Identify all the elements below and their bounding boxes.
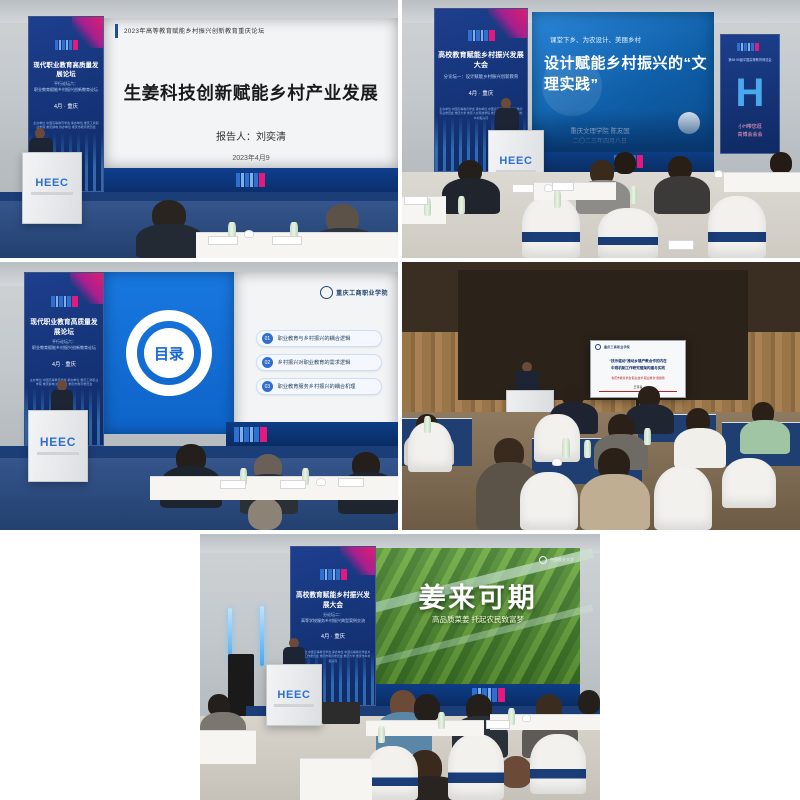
name-plate <box>280 480 306 489</box>
banquet-chair <box>708 196 766 258</box>
banquet-chair <box>598 208 658 258</box>
led-wall-field-image: 姜来可期 高品质菜姜 托起农民致富梦 中国农业大学 <box>376 548 580 684</box>
banner-date: 4月 · 重庆 <box>54 102 78 110</box>
podium: HEEC <box>28 410 88 482</box>
conference-chair <box>654 466 712 530</box>
name-plate <box>208 236 238 245</box>
banquet-chair <box>522 196 580 258</box>
podium-heec-logo: HEEC <box>35 177 68 189</box>
panel-4-breakout-room: 重庆工商职业学院 “技示驱动”推动乡镇产教合作的内在 中观机制工作研究框架构建与… <box>402 262 800 530</box>
led-wall-toc-right: 重庆工商职业学院 01 职业教育与乡村振兴的耦合逻辑 02 乡村振兴对职业教育的… <box>234 272 398 434</box>
mascot-banner-caption: 第58·59届中国高等教育博览会 <box>721 57 779 62</box>
podium-heec-logo: HEEC <box>499 155 532 167</box>
university-seal-icon <box>320 286 333 299</box>
podium-heec-logo: HEEC <box>40 435 76 449</box>
toc-item-label: 职业教育与乡村振兴的耦合逻辑 <box>278 335 351 342</box>
led-wall-toc-left: 目录 <box>104 272 234 434</box>
banner-corner-gradient <box>488 9 527 38</box>
banner-title: 高校教育赋能乡村振兴发展大会 <box>293 589 374 609</box>
banner-subtitle-2: 职业教育赋能乡村振兴创新教育论坛 <box>27 345 100 351</box>
mascot-banner-heec-logo <box>737 43 759 51</box>
toc-item-label: 乡村振兴对职业教育的需求逻辑 <box>278 359 351 366</box>
audience-head <box>770 152 792 174</box>
tea-cup <box>316 478 326 486</box>
name-plate <box>404 196 428 205</box>
water-bottle <box>424 416 431 433</box>
slide-lower-band <box>532 110 714 152</box>
screen-header-logo: 重庆工商职业学院 <box>595 344 630 350</box>
podium: HEEC <box>266 664 322 726</box>
podium-strip <box>274 704 314 707</box>
name-plate <box>668 240 694 250</box>
mascot-footer-line-1: 小H带您逛 <box>721 123 779 130</box>
round-table <box>724 172 800 192</box>
screen-subtitle: 重庆市教育学会“职业技术·职业教育”课题组 <box>591 376 685 380</box>
toc-item-number: 01 <box>262 333 273 344</box>
name-plate <box>220 480 246 489</box>
toc-item-label: 职业教育服务乡村振兴的耦合机理 <box>278 383 356 390</box>
name-plate <box>272 236 302 245</box>
water-bottle <box>562 438 570 458</box>
podium-strip <box>31 192 74 195</box>
banner-organizers: 主办单位 中国高等教育学会 承办单位 中国高等教育学会乡村振兴工作委员会 重庆市… <box>295 650 371 663</box>
audience-head <box>414 694 440 722</box>
banquet-chair <box>366 746 418 800</box>
conference-chair <box>520 472 578 530</box>
panel-3-agenda-slide: 目录 重庆工商职业学院 01 职业教育与乡村振兴的耦合逻辑 02 乡村振兴对职业… <box>0 262 398 530</box>
podium-heec-logo: HEEC <box>277 689 310 701</box>
audience-head <box>578 690 600 714</box>
slide-header-accent <box>115 24 118 38</box>
mascot-h-icon: H <box>721 73 779 113</box>
banner-corner-gradient <box>72 17 103 48</box>
panel-1-keynote-main-hall: 2023年高等教育赋能乡村振兴创新教育重庆论坛 生姜科技创新赋能乡村产业发展 报… <box>0 0 398 258</box>
audience-head <box>614 152 636 174</box>
audience-shoulders <box>580 474 650 530</box>
panel-2-mascot-banner: 第58·59届中国高等教育博览会 H 小H带您逛 高博会会会 <box>720 34 780 154</box>
slide-date: 2023年4月9 <box>104 153 398 163</box>
university-seal-icon <box>539 556 547 564</box>
name-plate <box>338 478 364 487</box>
toc-item-number: 02 <box>262 357 273 368</box>
water-bottle <box>644 428 651 445</box>
water-bottle <box>554 190 561 208</box>
panel-5-ginger-case-study: 姜来可期 高品质菜姜 托起农民致富梦 中国农业大学 <box>200 534 600 800</box>
mascot-footer-line-2: 高博会会会 <box>721 131 779 138</box>
podium-strip <box>37 452 80 455</box>
tea-cup <box>552 458 562 466</box>
name-plate <box>552 182 574 191</box>
banner-date: 4月 · 重庆 <box>469 89 494 97</box>
audience-head <box>248 498 282 530</box>
tea-cup <box>714 170 723 178</box>
tea-cup <box>522 714 531 722</box>
toc-item-2: 02 乡村振兴对职业教育的需求逻辑 <box>256 354 382 371</box>
slide-presenter: 报告人：刘奕清 <box>104 128 398 143</box>
toc-center-disc: 目录 <box>144 328 194 378</box>
banner-title: 高校教育赋能乡村振兴发展大会 <box>437 50 525 70</box>
banquet-chair <box>530 734 586 794</box>
podium: HEEC <box>22 152 82 224</box>
water-bottle <box>584 440 591 458</box>
name-plate <box>486 720 510 729</box>
water-bottle <box>458 196 465 214</box>
university-logo: 重庆工商职业学院 <box>320 286 388 299</box>
audience-shoulders <box>136 224 204 258</box>
toc-heading: 目录 <box>154 343 184 364</box>
banner-date: 4月 · 重庆 <box>52 360 76 368</box>
conference-chair <box>722 458 776 508</box>
photo-collage: 2023年高等教育赋能乡村振兴创新教育重庆论坛 生姜科技创新赋能乡村产业发展 报… <box>0 0 800 800</box>
slide-main-title: 设计赋能乡村振兴的“文理实践” <box>544 52 714 94</box>
tea-cup <box>244 230 254 238</box>
water-bottle <box>438 712 445 729</box>
toc-item-3: 03 职业教育服务乡村振兴的耦合机理 <box>256 378 382 395</box>
audience-shoulders <box>740 420 790 454</box>
name-plate <box>512 184 534 193</box>
audience-shoulders <box>442 178 500 214</box>
screen-title-line-2: 中观机制工作研究框架构建与实践 <box>591 366 685 371</box>
banner-subtitle: 分论坛一：设计赋能乡村振兴创新教育 <box>437 74 525 80</box>
field-slide-subtitle: 高品质菜姜 托起农民致富梦 <box>376 614 580 625</box>
stage-heec-logo <box>236 173 265 187</box>
speaker-at-podium <box>50 380 74 414</box>
banner-corner-gradient <box>340 547 375 575</box>
banner-subtitle-2: 职业教育赋能乡村振兴创新教育论坛 <box>31 87 101 93</box>
projector-screen: 重庆工商职业学院 “技示驱动”推动乡镇产教合作的内在 中观机制工作研究框架构建与… <box>590 340 686 398</box>
screen-presenter: 王伟良 <box>591 385 685 389</box>
audience-shoulders <box>654 176 710 214</box>
conference-chair <box>534 414 580 462</box>
audience-table <box>200 730 256 764</box>
banner-title: 现代职业教育高质量发展论坛 <box>32 60 100 78</box>
toc-item-number: 03 <box>262 381 273 392</box>
panel-2-design-session: 课堂下乡、为农设计、美丽乡村 设计赋能乡村振兴的“文理实践” 重庆文理学院 陈友… <box>402 0 800 258</box>
toc-item-1: 01 职业教育与乡村振兴的耦合逻辑 <box>256 330 382 347</box>
slide-subtitle: 课堂下乡、为农设计、美丽乡村 <box>550 34 641 44</box>
field-slide-title: 姜来可期 <box>376 576 580 615</box>
audience-head <box>500 756 532 788</box>
slide-main-title: 生姜科技创新赋能乡村产业发展 <box>104 80 398 105</box>
screen-title-line-1: “技示驱动”推动乡镇产教合作的内在 <box>591 359 685 364</box>
field-corner-logo: 中国农业大学 <box>539 556 574 564</box>
audience-shoulders <box>674 428 726 468</box>
stage-heec-logo <box>234 427 267 442</box>
led-wall-slide: 课堂下乡、为农设计、美丽乡村 设计赋能乡村振兴的“文理实践” 重庆文理学院 陈友… <box>532 12 714 152</box>
led-wall-slide: 2023年高等教育赋能乡村振兴创新教育重庆论坛 生姜科技创新赋能乡村产业发展 报… <box>104 18 398 168</box>
stage-light-bar <box>260 606 264 666</box>
water-bottle <box>630 186 637 204</box>
university-name: 重庆工商职业学院 <box>336 288 388 297</box>
banner-date: 4月 · 重庆 <box>321 632 345 640</box>
banner-title: 现代职业教育高质量发展论坛 <box>27 316 100 336</box>
speaker-at-podium <box>494 98 520 132</box>
university-seal-icon <box>595 344 601 350</box>
banner-subtitle-2: 高等学校服务乡村振兴典型案例交流 <box>294 618 373 624</box>
banquet-chair <box>448 734 504 800</box>
field-corner-logo-name: 中国农业大学 <box>550 557 574 563</box>
speaker-body <box>495 108 519 132</box>
water-bottle <box>378 726 385 743</box>
slide-header-text: 2023年高等教育赋能乡村振兴创新教育重庆论坛 <box>124 26 265 35</box>
banner-corner-gradient <box>70 273 103 304</box>
screen-university-name: 重庆工商职业学院 <box>604 345 630 349</box>
audience-table <box>300 758 372 800</box>
stage-monitor <box>322 702 360 724</box>
